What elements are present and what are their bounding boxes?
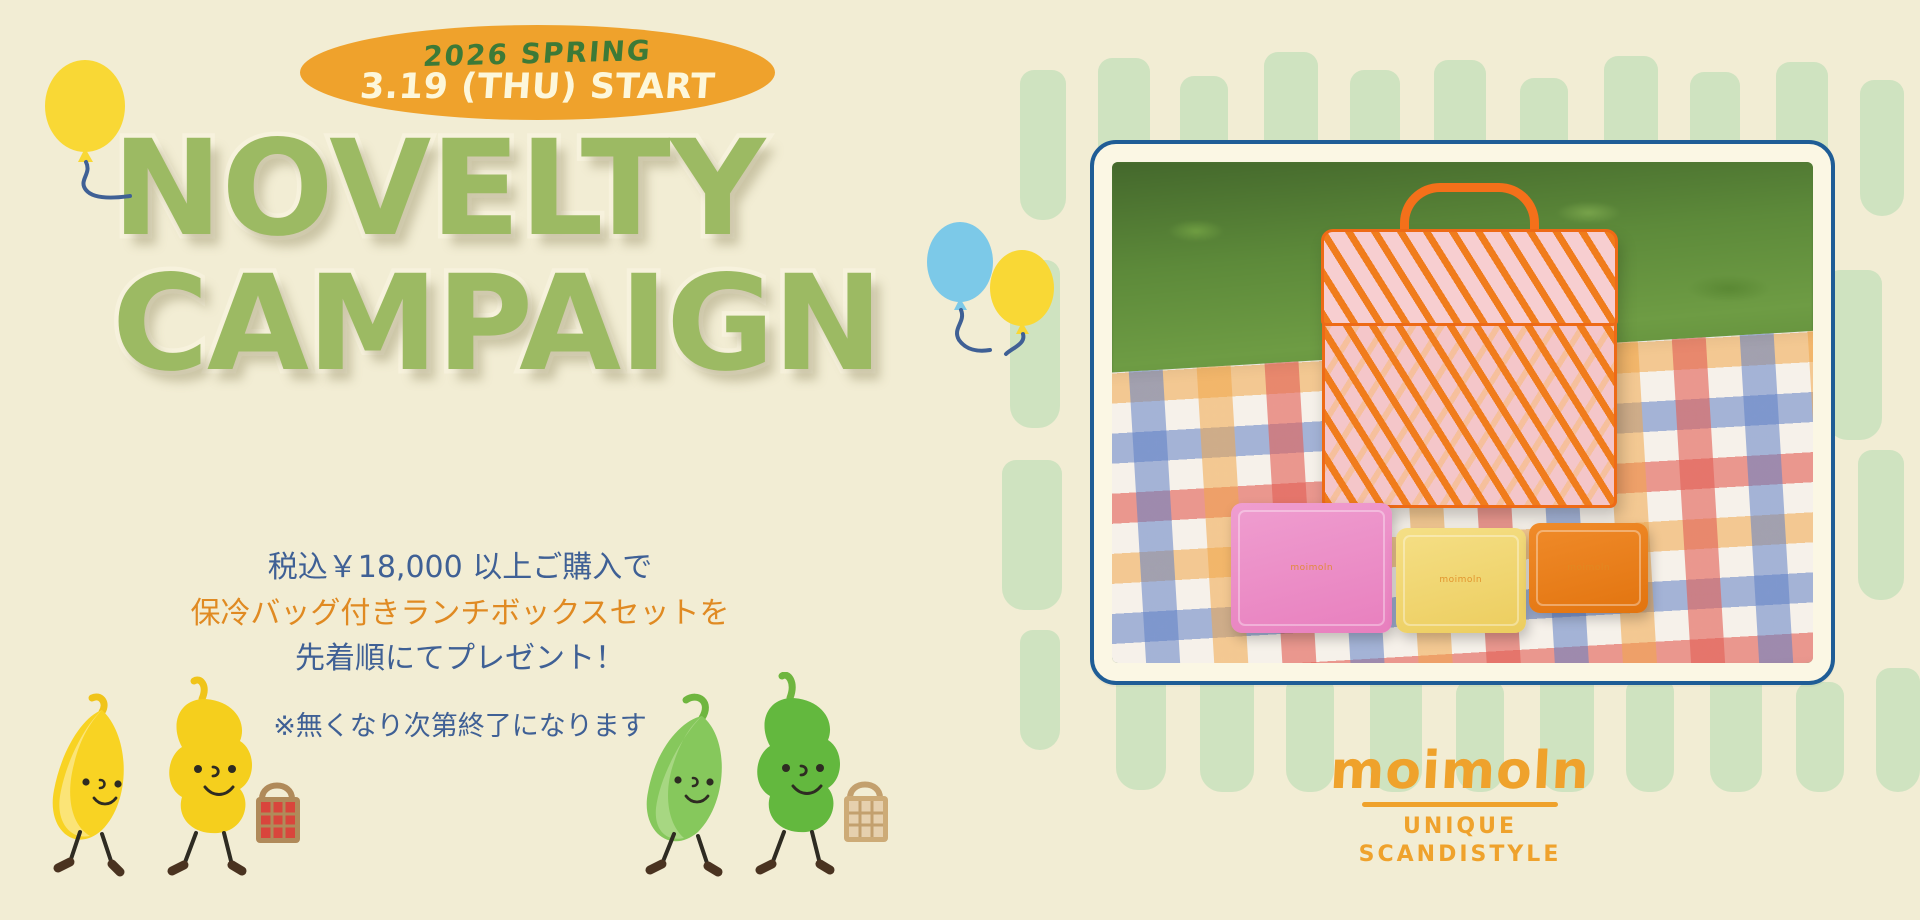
badge-season-label: 2026 SPRING	[422, 37, 653, 71]
badge-date-label: 3.19 (THU) START	[359, 70, 716, 105]
product-photo-card: moimoln moimoln moimoln	[1090, 140, 1835, 685]
copy-line-2: 保冷バッグ付きランチボックスセットを	[150, 591, 770, 637]
logo-tagline-line-1: UNIQUE	[1310, 813, 1610, 841]
headline-line-1: NOVELTY	[112, 125, 932, 254]
grape-leaf-character	[706, 672, 906, 884]
headline-line-2: CAMPAIGN	[112, 260, 932, 389]
logo-wordmark: moimoln	[1309, 745, 1612, 797]
logo-tagline-line-2: SCANDISTYLE	[1310, 841, 1610, 869]
yellow-balloon	[30, 48, 160, 208]
campaign-banner: 2026 SPRING 3.19 (THU) START NOVELTY CAM…	[0, 0, 1920, 920]
lunch-box-orange: moimoln	[1529, 523, 1648, 613]
lemon-character	[120, 675, 320, 885]
cooler-bag	[1322, 232, 1616, 508]
product-photo: moimoln moimoln moimoln	[1112, 162, 1813, 663]
page-title: NOVELTY CAMPAIGN	[112, 125, 932, 390]
blue-balloon	[912, 212, 1082, 402]
cooler-bag-lid	[1321, 229, 1617, 326]
lunch-box-label: moimoln	[1567, 563, 1610, 573]
logo-underline	[1362, 802, 1558, 807]
start-date-badge: 2026 SPRING 3.19 (THU) START	[300, 25, 775, 120]
lunch-box-pink: moimoln	[1231, 503, 1392, 633]
lunch-box-label: moimoln	[1290, 563, 1333, 573]
lunch-box-label: moimoln	[1439, 575, 1482, 585]
copy-line-1: 税込￥18,000 以上ご購入で	[150, 545, 770, 591]
lunch-box-yellow: moimoln	[1396, 528, 1526, 633]
brand-logo: moimoln UNIQUE SCANDISTYLE	[1310, 745, 1610, 868]
